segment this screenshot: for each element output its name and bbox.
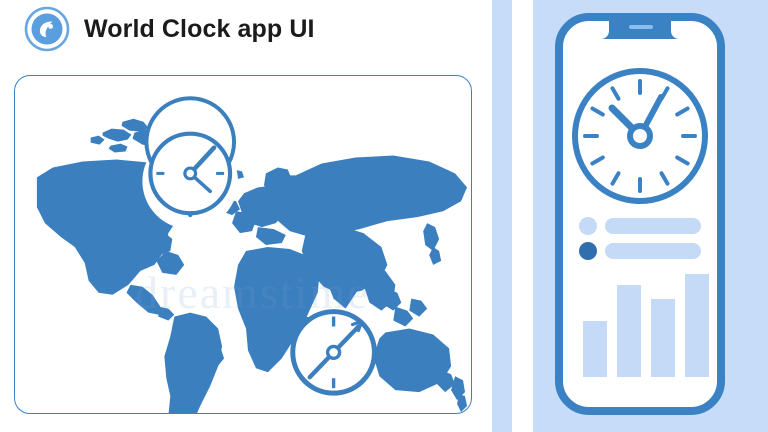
chart-bar xyxy=(651,299,675,377)
list-row-bar xyxy=(605,243,701,259)
app-clock-face xyxy=(575,71,705,201)
screenshot-canvas: World Clock app UI xyxy=(0,0,768,432)
world-map-continents xyxy=(37,111,467,413)
background-accent-strip xyxy=(492,0,512,432)
world-map-panel[interactable]: dreamstime xyxy=(14,75,472,414)
background-gap-white xyxy=(512,0,533,432)
header: World Clock app UI xyxy=(24,6,315,52)
list-row-bar xyxy=(605,218,701,234)
phone-speaker-slot xyxy=(629,25,653,29)
phone-mockup[interactable] xyxy=(555,13,725,415)
indian-ocean-compass-clock xyxy=(293,312,375,394)
north-atlantic-clock-pin xyxy=(142,98,238,229)
clock-compass-logo-icon xyxy=(24,6,70,52)
chart-bar xyxy=(617,285,641,377)
list-bullet-light xyxy=(579,217,597,235)
phone-notch xyxy=(601,21,679,39)
chart-bar xyxy=(685,274,709,377)
chart-bar xyxy=(583,321,607,377)
list-bullet-dark xyxy=(579,242,597,260)
page-title: World Clock app UI xyxy=(84,17,315,42)
